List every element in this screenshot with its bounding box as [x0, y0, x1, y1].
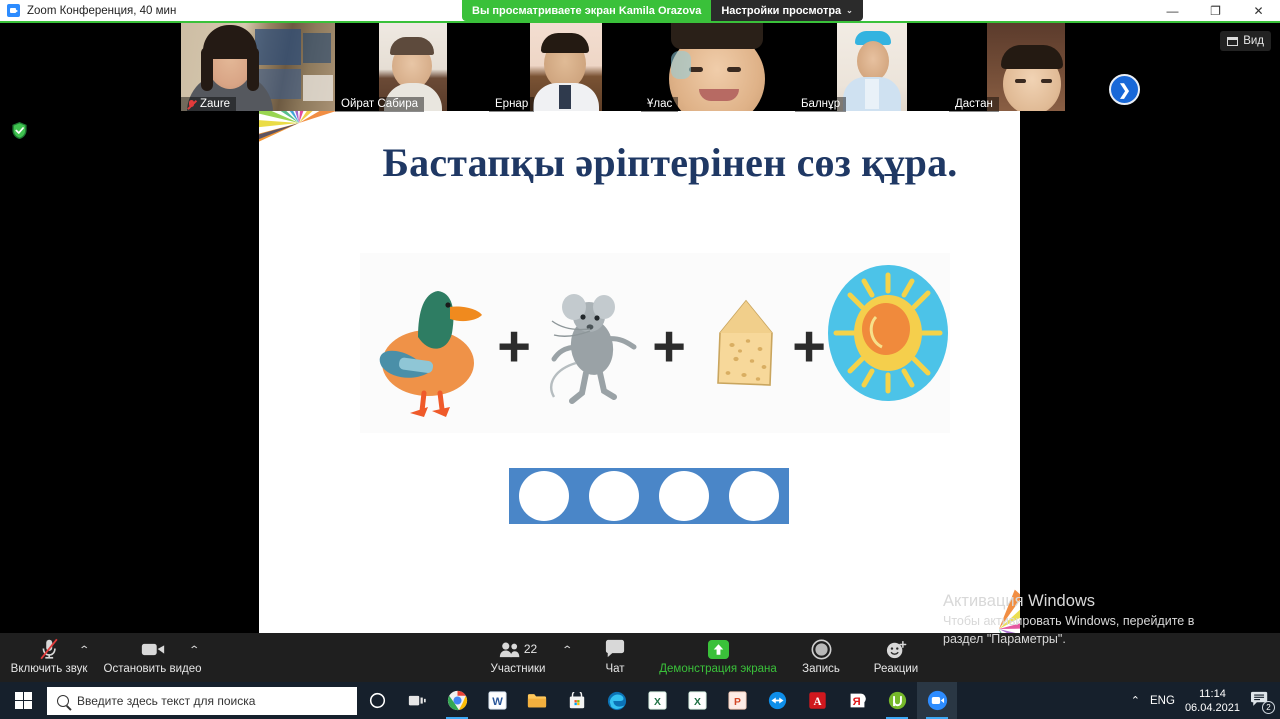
- view-options-button[interactable]: Настройки просмотра ⌄: [711, 0, 863, 21]
- adobe-reader-icon[interactable]: A: [797, 682, 837, 719]
- sun-picture: [824, 259, 954, 409]
- participant-tile[interactable]: Дастан: [949, 23, 1103, 112]
- microsoft-store-icon[interactable]: [557, 682, 597, 719]
- chat-bubble-icon: [604, 637, 626, 661]
- utorrent-icon[interactable]: [877, 682, 917, 719]
- system-tray: ⌃ ENG 11:14 06.04.2021 2: [1131, 682, 1280, 719]
- participants-chevron-icon[interactable]: ⌃: [561, 645, 573, 656]
- mic-muted-icon: [37, 637, 61, 661]
- excel-green-icon[interactable]: X: [677, 682, 717, 719]
- participant-filmstrip: Zaure Ойрат Сабира: [0, 23, 1280, 112]
- view-options-label: Настройки просмотра: [721, 5, 841, 17]
- svg-text:A: A: [813, 696, 822, 708]
- chat-label: Чат: [605, 663, 624, 675]
- record-circle-icon: [811, 637, 832, 661]
- svg-text:Я: Я: [852, 696, 860, 708]
- svg-text:P: P: [734, 697, 741, 708]
- presentation-slide: Бастапқы әріптерінен сөз құра. +: [259, 111, 1020, 633]
- word-icon[interactable]: W: [477, 682, 517, 719]
- participant-name-text: Ойрат Сабира: [341, 98, 418, 110]
- zoom-meeting-window: Zoom Конференция, 40 мин — ❐ ✕ Вы просма…: [0, 0, 1280, 719]
- start-button[interactable]: [0, 682, 47, 719]
- participants-button[interactable]: 22 Участники: [487, 637, 549, 675]
- chat-button[interactable]: Чат: [592, 637, 638, 675]
- participants-count: 22: [524, 642, 537, 656]
- view-button[interactable]: Вид: [1220, 31, 1271, 51]
- plus-sign-2: +: [648, 327, 690, 369]
- clock[interactable]: 11:14 06.04.2021: [1185, 687, 1240, 715]
- security-shield-icon[interactable]: [11, 121, 28, 140]
- participant-tile[interactable]: Балнұр: [795, 23, 949, 112]
- svg-text:X: X: [654, 697, 661, 708]
- teamviewer-icon[interactable]: [757, 682, 797, 719]
- participant-name-label: Zaure: [181, 97, 236, 112]
- participant-tile[interactable]: Ойрат Сабира: [335, 23, 489, 112]
- yandex-icon[interactable]: Я: [837, 682, 877, 719]
- picture-equation: +: [360, 253, 950, 433]
- plus-sign-1: +: [493, 327, 535, 369]
- mic-muted-icon: [187, 99, 196, 110]
- smiley-icon: [885, 637, 907, 661]
- people-icon: 22: [499, 637, 537, 661]
- notification-center-button[interactable]: 2: [1250, 691, 1272, 711]
- participant-name-text: Ернар: [495, 98, 528, 110]
- share-status-text: Вы просматриваете экран Kamila Orazova: [462, 0, 711, 21]
- chevron-down-icon: ⌄: [846, 6, 853, 15]
- file-explorer-icon[interactable]: [517, 682, 557, 719]
- answer-cell[interactable]: [509, 468, 579, 524]
- windows-taskbar: Введите здесь текст для поиска: [0, 682, 1280, 719]
- svg-text:W: W: [492, 696, 503, 708]
- participant-tile[interactable]: Zaure: [181, 23, 335, 112]
- camera-icon: [140, 637, 166, 661]
- grid-view-icon: [1227, 37, 1238, 46]
- participant-name-text: Zaure: [200, 98, 230, 110]
- participants-label: Участники: [491, 663, 546, 675]
- answer-circle: [729, 471, 779, 521]
- answer-circle: [659, 471, 709, 521]
- zoom-icon: [7, 4, 20, 17]
- slide-title: Бастапқы әріптерінен сөз құра.: [335, 139, 1005, 186]
- record-button[interactable]: Запись: [793, 637, 849, 675]
- audio-options-chevron-icon[interactable]: ⌃: [78, 645, 90, 656]
- search-input[interactable]: Введите здесь текст для поиска: [47, 687, 357, 715]
- edge-icon[interactable]: [597, 682, 637, 719]
- participant-name-text: Ұлас: [647, 98, 672, 110]
- next-participants-button[interactable]: ❯: [1109, 74, 1140, 105]
- participant-name-text: Дастан: [955, 98, 993, 110]
- mouse-picture: [542, 285, 652, 415]
- share-screen-icon: [707, 637, 730, 661]
- participant-tile-active[interactable]: Ұлас: [641, 23, 795, 112]
- close-button[interactable]: ✕: [1237, 0, 1280, 21]
- duck-picture: [366, 271, 496, 421]
- window-title: Zoom Конференция, 40 мин: [27, 5, 176, 17]
- reactions-button[interactable]: Реакции: [866, 637, 926, 675]
- decorative-burst-icon-2: [969, 581, 1020, 633]
- notification-badge: 2: [1262, 701, 1275, 714]
- share-screen-label: Демонстрация экрана: [659, 663, 777, 675]
- participant-name-label: Ұлас: [641, 97, 678, 112]
- answer-cell[interactable]: [649, 468, 719, 524]
- answer-boxes: [509, 468, 789, 524]
- answer-cell[interactable]: [719, 468, 789, 524]
- cheese-picture: [692, 289, 802, 409]
- start-icon: [15, 692, 32, 709]
- answer-circle: [519, 471, 569, 521]
- search-placeholder: Введите здесь текст для поиска: [77, 694, 255, 708]
- video-options-chevron-icon[interactable]: ⌃: [188, 645, 200, 656]
- zoom-icon[interactable]: [917, 682, 957, 719]
- window-controls: — ❐ ✕: [1151, 0, 1280, 21]
- cortana-icon[interactable]: [357, 682, 397, 719]
- search-icon: [57, 695, 69, 707]
- svg-text:X: X: [694, 697, 701, 708]
- stop-video-label: Остановить видео: [104, 663, 202, 675]
- view-button-label: Вид: [1243, 35, 1264, 47]
- participant-name-text: Балнұр: [801, 98, 840, 110]
- screen-share-status-bar: Вы просматриваете экран Kamila Orazova Н…: [462, 0, 863, 21]
- chrome-icon[interactable]: [437, 682, 477, 719]
- participant-name-label: Ойрат Сабира: [335, 97, 424, 112]
- reactions-label: Реакции: [874, 663, 918, 675]
- clock-time: 11:14: [1199, 687, 1226, 701]
- tray-expand-chevron-icon[interactable]: ⌃: [1131, 694, 1140, 707]
- mute-button[interactable]: Включить звук: [14, 637, 84, 675]
- participant-tile[interactable]: Ернар: [489, 23, 643, 112]
- language-indicator[interactable]: ENG: [1150, 695, 1175, 707]
- task-view-icon[interactable]: [397, 682, 437, 719]
- excel-icon[interactable]: X: [637, 682, 677, 719]
- record-label: Запись: [802, 663, 840, 675]
- maximize-button[interactable]: ❐: [1194, 0, 1237, 21]
- powerpoint-icon[interactable]: P: [717, 682, 757, 719]
- share-screen-button[interactable]: Демонстрация экрана: [653, 637, 783, 675]
- answer-circle: [589, 471, 639, 521]
- clock-date: 06.04.2021: [1185, 701, 1240, 715]
- participant-name-label: Балнұр: [795, 97, 846, 112]
- minimize-button[interactable]: —: [1151, 0, 1194, 21]
- participant-name-label: Дастан: [949, 97, 999, 112]
- answer-cell[interactable]: [579, 468, 649, 524]
- zoom-control-toolbar: Включить звук ⌃ Остановить видео ⌃: [0, 633, 1280, 682]
- mute-button-label: Включить звук: [11, 663, 88, 675]
- participant-name-label: Ернар: [489, 97, 534, 112]
- stop-video-button[interactable]: Остановить видео: [110, 637, 195, 675]
